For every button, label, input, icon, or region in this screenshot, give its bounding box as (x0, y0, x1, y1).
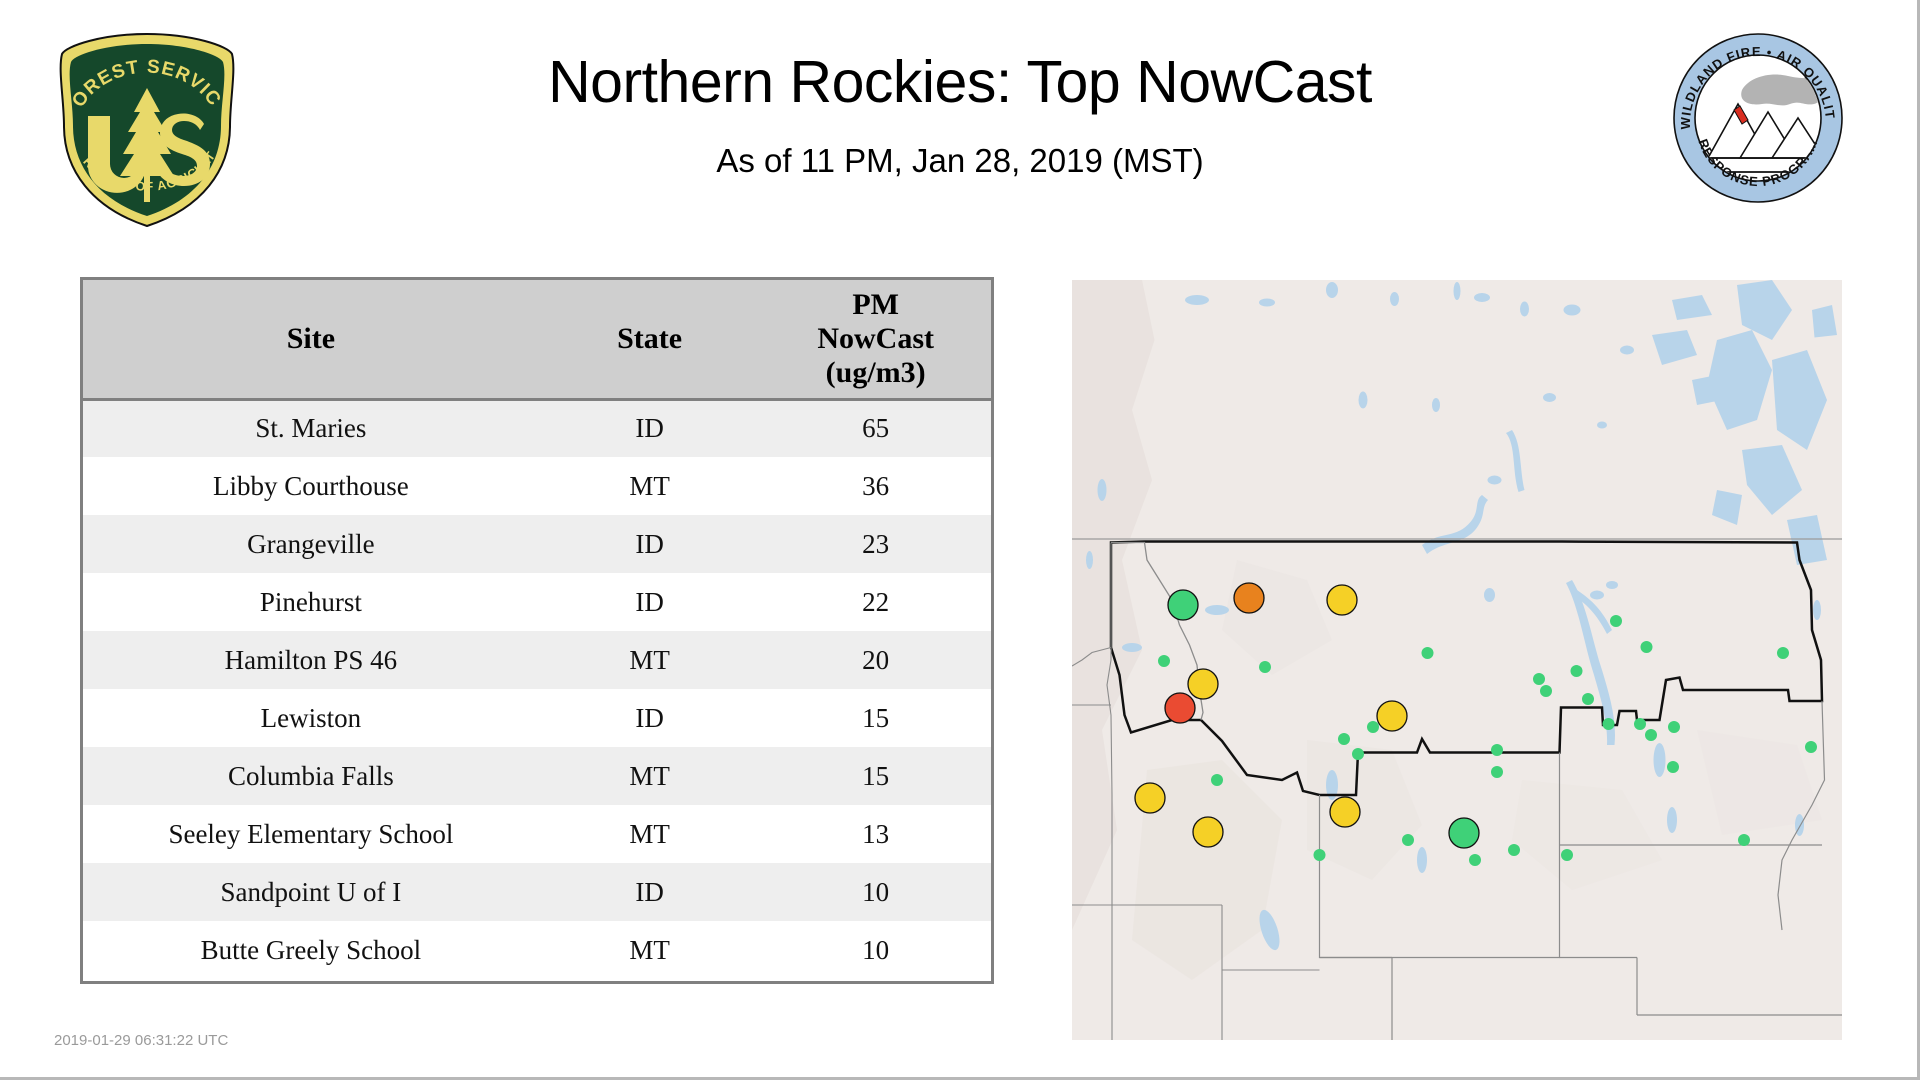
cell-site: Butte Greely School (83, 921, 539, 979)
column-header-pm-line1: PM (766, 288, 985, 322)
table-body: St. Maries ID 65 Libby Courthouse MT 36 … (83, 399, 991, 979)
table-row[interactable]: Hamilton PS 46 MT 20 (83, 631, 991, 689)
cell-state: MT (539, 747, 761, 805)
cell-site: Sandpoint U of I (83, 863, 539, 921)
air-quality-map[interactable] (1072, 280, 1842, 1040)
column-header-state-label: State (617, 322, 682, 355)
table-row[interactable]: St. Maries ID 65 (83, 399, 991, 457)
footer-timestamp: 2019-01-29 06:31:22 UTC (54, 1032, 228, 1049)
cell-value: 10 (760, 921, 991, 979)
cell-site: Pinehurst (83, 573, 539, 631)
column-header-pm-nowcast: PM NowCast (ug/m3) (760, 280, 991, 399)
column-header-site-label: Site (287, 322, 335, 355)
header-title-block: Northern Rockies: Top NowCast As of 11 P… (250, 52, 1670, 180)
cell-state: MT (539, 921, 761, 979)
page-title: Northern Rockies: Top NowCast (250, 52, 1670, 114)
cell-site: Columbia Falls (83, 747, 539, 805)
cell-state: ID (539, 689, 761, 747)
table-header-row: Site State PM NowCast (ug/m3) (83, 280, 991, 399)
table-header: Site State PM NowCast (ug/m3) (83, 280, 991, 399)
cell-site: Hamilton PS 46 (83, 631, 539, 689)
cell-value: 20 (760, 631, 991, 689)
cell-value: 10 (760, 863, 991, 921)
table-row[interactable]: Lewiston ID 15 (83, 689, 991, 747)
cell-value: 13 (760, 805, 991, 863)
cell-value: 65 (760, 399, 991, 457)
nowcast-table: Site State PM NowCast (ug/m3) St. Maries… (83, 280, 991, 979)
page-subtitle: As of 11 PM, Jan 28, 2019 (MST) (250, 142, 1670, 180)
cell-state: MT (539, 457, 761, 515)
cell-value: 15 (760, 689, 991, 747)
column-header-pm-line3: (ug/m3) (766, 356, 985, 390)
table-row[interactable]: Grangeville ID 23 (83, 515, 991, 573)
wildland-fire-air-quality-logo: WILDLAND FIRE • AIR QUALITY RESPONSE PRO… (1672, 32, 1844, 204)
cell-state: MT (539, 805, 761, 863)
column-header-state: State (539, 280, 761, 399)
nowcast-table-container: Site State PM NowCast (ug/m3) St. Maries… (80, 277, 994, 984)
usda-forest-service-logo: FOREST SERVICE DEPARTMENT OF AGRICULTURE (52, 30, 242, 230)
slide-canvas: FOREST SERVICE DEPARTMENT OF AGRICULTURE… (0, 0, 1920, 1080)
cell-site: Lewiston (83, 689, 539, 747)
cell-state: ID (539, 573, 761, 631)
column-header-pm-line2: NowCast (766, 322, 985, 356)
cell-value: 36 (760, 457, 991, 515)
cell-state: ID (539, 515, 761, 573)
cell-value: 22 (760, 573, 991, 631)
cell-site: St. Maries (83, 399, 539, 457)
table-row[interactable]: Pinehurst ID 22 (83, 573, 991, 631)
table-row[interactable]: Butte Greely School MT 10 (83, 921, 991, 979)
cell-value: 15 (760, 747, 991, 805)
table-row[interactable]: Sandpoint U of I ID 10 (83, 863, 991, 921)
cell-value: 23 (760, 515, 991, 573)
table-row[interactable]: Columbia Falls MT 15 (83, 747, 991, 805)
table-row[interactable]: Libby Courthouse MT 36 (83, 457, 991, 515)
cell-site: Libby Courthouse (83, 457, 539, 515)
cell-state: ID (539, 863, 761, 921)
cell-site: Grangeville (83, 515, 539, 573)
cell-state: ID (539, 399, 761, 457)
cell-site: Seeley Elementary School (83, 805, 539, 863)
cell-state: MT (539, 631, 761, 689)
column-header-site: Site (83, 280, 539, 399)
table-row[interactable]: Seeley Elementary School MT 13 (83, 805, 991, 863)
